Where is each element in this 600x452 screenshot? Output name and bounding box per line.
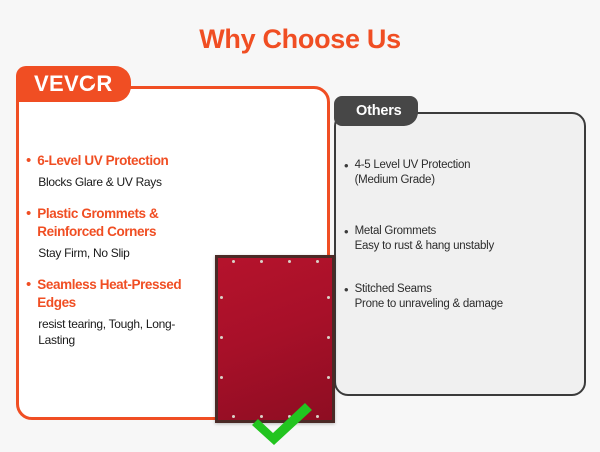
list-item: • 6-Level UV Protection Blocks Glare & U… bbox=[26, 152, 194, 190]
others-feature-text: Stitched Seams Prone to unraveling & dam… bbox=[355, 282, 503, 312]
green-check-icon bbox=[248, 401, 316, 447]
bullet-icon: • bbox=[26, 205, 31, 261]
others-feature-text: 4-5 Level UV Protection (Medium Grade) bbox=[355, 158, 471, 188]
others-feature-title: Stitched Seams bbox=[355, 283, 432, 295]
bullet-icon: • bbox=[26, 276, 31, 348]
bullet-icon: • bbox=[344, 158, 349, 188]
list-item: • Metal Grommets Easy to rust & hang uns… bbox=[344, 224, 524, 254]
bullet-icon: • bbox=[344, 282, 349, 312]
vevor-feature-title: Plastic Grommets & Reinforced Corners bbox=[37, 206, 158, 239]
vevor-product-image bbox=[215, 255, 335, 423]
list-item: • 4-5 Level UV Protection (Medium Grade) bbox=[344, 158, 524, 188]
vevor-feature-text: 6-Level UV Protection Blocks Glare & UV … bbox=[37, 152, 168, 190]
others-feature-title: Metal Grommets bbox=[355, 225, 437, 237]
others-feature-subtitle: Prone to unraveling & damage bbox=[355, 297, 503, 312]
list-item: • Seamless Heat-Pressed Edges resist tea… bbox=[26, 276, 194, 348]
vevor-feature-subtitle: Stay Firm, No Slip bbox=[38, 245, 194, 261]
others-feature-subtitle: Easy to rust & hang unstably bbox=[355, 239, 494, 254]
others-feature-text: Metal Grommets Easy to rust & hang unsta… bbox=[355, 224, 494, 254]
vevor-o-letter: O bbox=[79, 71, 96, 97]
vevor-feature-title: 6-Level UV Protection bbox=[37, 153, 168, 168]
vevor-feature-list: • 6-Level UV Protection Blocks Glare & U… bbox=[26, 152, 194, 363]
vevor-feature-subtitle: resist tearing, Tough, Long-Lasting bbox=[38, 316, 194, 348]
others-feature-list: • 4-5 Level UV Protection (Medium Grade)… bbox=[344, 158, 524, 338]
vevor-wordmark-part1: VEV bbox=[34, 71, 79, 97]
vevor-wordmark-part2: R bbox=[96, 71, 112, 97]
vevor-feature-text: Plastic Grommets & Reinforced Corners St… bbox=[37, 205, 194, 261]
list-item: • Plastic Grommets & Reinforced Corners … bbox=[26, 205, 194, 261]
bullet-icon: • bbox=[344, 224, 349, 254]
vevor-logo-badge: VEVOR bbox=[16, 66, 131, 102]
vevor-feature-title: Seamless Heat-Pressed Edges bbox=[37, 277, 181, 310]
vevor-feature-text: Seamless Heat-Pressed Edges resist teari… bbox=[37, 276, 194, 348]
vevor-wordmark: VEVOR bbox=[34, 71, 113, 97]
vevor-feature-subtitle: Blocks Glare & UV Rays bbox=[38, 174, 168, 190]
others-badge: Others bbox=[334, 96, 418, 126]
others-badge-label: Others bbox=[356, 103, 402, 119]
page-title: Why Choose Us bbox=[0, 24, 600, 55]
list-item: • Stitched Seams Prone to unraveling & d… bbox=[344, 282, 524, 312]
others-feature-subtitle: (Medium Grade) bbox=[355, 173, 471, 188]
others-feature-title: 4-5 Level UV Protection bbox=[355, 159, 471, 171]
comparison-infographic: Why Choose Us bbox=[0, 0, 600, 450]
bullet-icon: • bbox=[26, 152, 31, 190]
